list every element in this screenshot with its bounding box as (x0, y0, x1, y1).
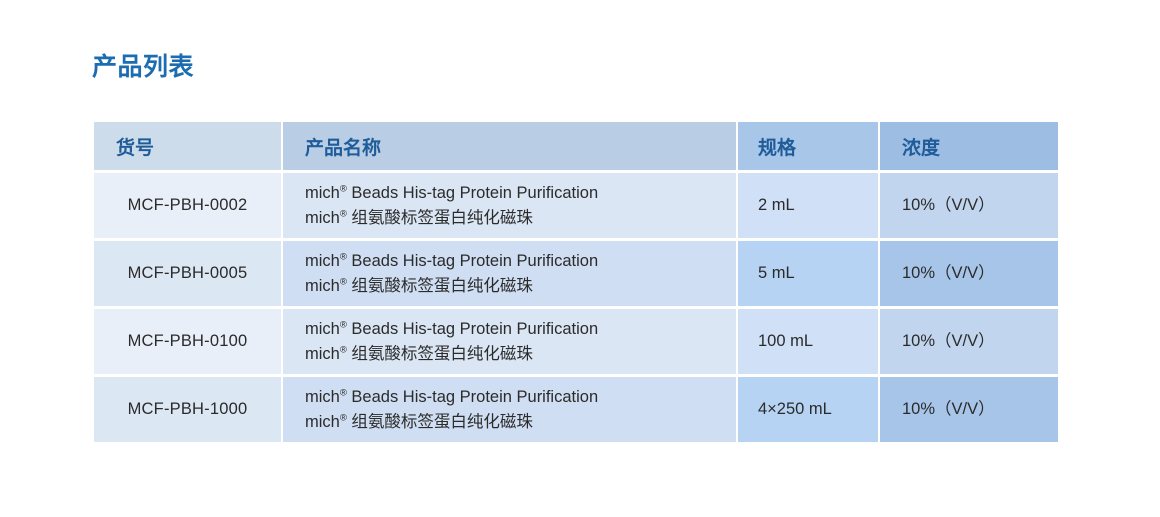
cell-specification: 100 mL (738, 309, 878, 374)
cell-product-code: MCF-PBH-0005 (94, 241, 281, 306)
registered-mark-icon: ® (340, 319, 347, 330)
cell-product-code: MCF-PBH-0100 (94, 309, 281, 374)
product-name-chinese-text: 组氨酸标签蛋白纯化磁珠 (347, 277, 533, 295)
cell-product-name: mich® Beads His-tag Protein Purification… (283, 309, 736, 374)
cell-product-name: mich® Beads His-tag Protein Purification… (283, 377, 736, 442)
brand-name: mich (305, 413, 340, 431)
brand-name: mich (305, 320, 340, 338)
column-header-code: 货号 (94, 122, 281, 170)
cell-concentration: 10%（V/V） (880, 173, 1058, 238)
product-name-english-text: Beads His-tag Protein Purification (347, 388, 598, 406)
column-header-concentration: 浓度 (880, 122, 1058, 170)
product-name-english-text: Beads His-tag Protein Purification (347, 320, 598, 338)
product-name-chinese: mich® 组氨酸标签蛋白纯化磁珠 (305, 410, 728, 435)
cell-concentration: 10%（V/V） (880, 309, 1058, 374)
product-name-chinese-text: 组氨酸标签蛋白纯化磁珠 (347, 209, 533, 227)
registered-mark-icon: ® (340, 344, 347, 355)
table-row: MCF-PBH-0002 mich® Beads His-tag Protein… (94, 173, 1058, 238)
brand-name: mich (305, 388, 340, 406)
table-header: 货号 产品名称 规格 浓度 (94, 122, 1058, 170)
cell-concentration: 10%（V/V） (880, 377, 1058, 442)
registered-mark-icon: ® (340, 276, 347, 287)
cell-specification: 2 mL (738, 173, 878, 238)
registered-mark-icon: ® (340, 251, 347, 262)
product-name-english: mich® Beads His-tag Protein Purification (305, 249, 728, 274)
table-header-row: 货号 产品名称 规格 浓度 (94, 122, 1058, 170)
product-name-english-text: Beads His-tag Protein Purification (347, 252, 598, 270)
product-name-english-text: Beads His-tag Protein Purification (347, 184, 598, 202)
product-name-english: mich® Beads His-tag Protein Purification (305, 385, 728, 410)
registered-mark-icon: ® (340, 208, 347, 219)
product-name-english: mich® Beads His-tag Protein Purification (305, 317, 728, 342)
product-list-page: 产品列表 货号 产品名称 规格 浓度 MCF-PBH-0002 mich® Be… (0, 0, 1160, 517)
cell-specification: 4×250 mL (738, 377, 878, 442)
table-row: MCF-PBH-1000 mich® Beads His-tag Protein… (94, 377, 1058, 442)
brand-name: mich (305, 252, 340, 270)
cell-product-name: mich® Beads His-tag Protein Purification… (283, 241, 736, 306)
cell-specification: 5 mL (738, 241, 878, 306)
cell-concentration: 10%（V/V） (880, 241, 1058, 306)
product-name-chinese: mich® 组氨酸标签蛋白纯化磁珠 (305, 206, 728, 231)
product-name-english: mich® Beads His-tag Protein Purification (305, 181, 728, 206)
registered-mark-icon: ® (340, 183, 347, 194)
table-row: MCF-PBH-0100 mich® Beads His-tag Protein… (94, 309, 1058, 374)
brand-name: mich (305, 184, 340, 202)
registered-mark-icon: ® (340, 387, 347, 398)
cell-product-code: MCF-PBH-1000 (94, 377, 281, 442)
product-table: 货号 产品名称 规格 浓度 MCF-PBH-0002 mich® Beads H… (92, 119, 1060, 445)
brand-name: mich (305, 345, 340, 363)
registered-mark-icon: ® (340, 412, 347, 423)
brand-name: mich (305, 209, 340, 227)
cell-product-name: mich® Beads His-tag Protein Purification… (283, 173, 736, 238)
product-name-chinese: mich® 组氨酸标签蛋白纯化磁珠 (305, 274, 728, 299)
product-name-chinese: mich® 组氨酸标签蛋白纯化磁珠 (305, 342, 728, 367)
column-header-name: 产品名称 (283, 122, 736, 170)
page-title: 产品列表 (92, 50, 194, 84)
cell-product-code: MCF-PBH-0002 (94, 173, 281, 238)
product-name-chinese-text: 组氨酸标签蛋白纯化磁珠 (347, 345, 533, 363)
table-row: MCF-PBH-0005 mich® Beads His-tag Protein… (94, 241, 1058, 306)
product-name-chinese-text: 组氨酸标签蛋白纯化磁珠 (347, 413, 533, 431)
table-body: MCF-PBH-0002 mich® Beads His-tag Protein… (94, 173, 1058, 442)
column-header-spec: 规格 (738, 122, 878, 170)
brand-name: mich (305, 277, 340, 295)
